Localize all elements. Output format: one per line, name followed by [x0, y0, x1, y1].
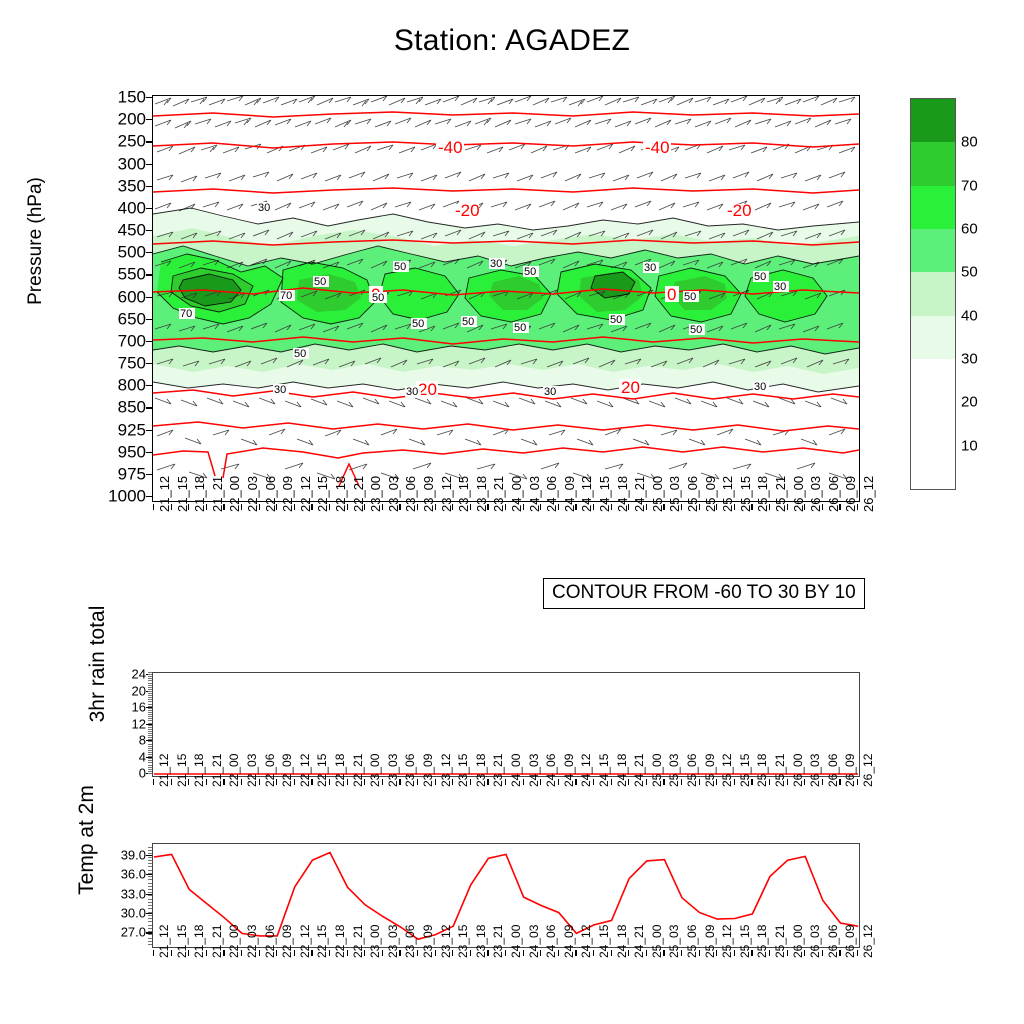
colorbar-label: 80 [961, 134, 978, 151]
x-tick-label: 23_15 [456, 754, 470, 787]
x-tick-mark [751, 950, 752, 956]
x-tick-label: 25_09 [703, 925, 717, 958]
x-tick-mark [839, 504, 840, 510]
x-tick-mark [276, 950, 277, 956]
x-tick-mark [857, 950, 858, 956]
x-tick-label: 23_12 [439, 925, 453, 958]
x-tick-mark [593, 504, 594, 510]
x-tick-label: 25_18 [755, 754, 769, 787]
colorbar-label: 50 [961, 264, 978, 281]
x-tick-label: 23_18 [474, 925, 488, 958]
x-tick-mark [206, 950, 207, 956]
x-tick-label: 24_12 [579, 925, 593, 958]
x-tick-mark [364, 504, 365, 510]
x-tick-mark [769, 779, 770, 785]
x-tick-mark [311, 779, 312, 785]
x-tick-mark [822, 779, 823, 785]
x-tick-label: 24_12 [579, 754, 593, 787]
rain-y-tick-label: 8 [104, 734, 146, 747]
x-tick-mark [417, 950, 418, 956]
x-tick-mark [787, 779, 788, 785]
x-tick-label: 24_09 [562, 925, 576, 958]
x-tick-mark [804, 779, 805, 785]
x-tick-label: 24_00 [509, 925, 523, 958]
x-tick-mark [628, 504, 629, 510]
x-tick-label: 25_03 [667, 925, 681, 958]
x-tick-mark [311, 504, 312, 510]
x-tick-label: 25_09 [703, 754, 717, 787]
x-tick-mark [611, 779, 612, 785]
x-tick-mark [646, 950, 647, 956]
x-tick-label: 21_21 [210, 754, 224, 787]
y-tick-label: 500 [90, 244, 146, 261]
rain-y-tick-label: 12 [104, 717, 146, 730]
x-tick-label: 21_15 [175, 754, 189, 787]
x-tick-mark [523, 950, 524, 956]
temp-y-tick-label: 36.0 [92, 868, 146, 881]
x-tick-label: 25_06 [685, 754, 699, 787]
y-tick-label: 150 [90, 89, 146, 106]
y-tick-label: 350 [90, 177, 146, 194]
x-tick-mark [523, 504, 524, 510]
x-tick-label: 24_06 [544, 754, 558, 787]
x-tick-label: 22_12 [298, 925, 312, 958]
x-tick-mark [329, 950, 330, 956]
red-contour-label: 0 [667, 285, 676, 304]
x-tick-mark [452, 504, 453, 510]
humidity-contour-label: 50 [610, 314, 622, 326]
humidity-contour-label: 50 [372, 292, 384, 304]
x-tick-label: 23_06 [403, 754, 417, 787]
x-tick-mark [347, 950, 348, 956]
x-tick-label: 22_06 [263, 754, 277, 787]
x-tick-mark [716, 779, 717, 785]
x-tick-mark [399, 779, 400, 785]
x-tick-label: 23_09 [421, 754, 435, 787]
humidity-contour-label: 30 [544, 386, 556, 398]
rain-x-axis-labels: 21_1221_1521_1821_2122_0022_0322_0622_09… [152, 779, 858, 849]
x-tick-mark [435, 504, 436, 510]
x-tick-mark [558, 779, 559, 785]
main-x-axis-labels: 21_1221_1521_1821_2122_0022_0322_0622_09… [152, 504, 858, 579]
x-tick-mark [188, 950, 189, 956]
x-tick-label: 23_09 [421, 925, 435, 958]
y-tick-label: 550 [90, 266, 146, 283]
x-tick-label: 23_06 [403, 925, 417, 958]
red-contour-label: 20 [621, 378, 640, 397]
humidity-contour-label: 30 [274, 384, 286, 396]
x-tick-mark [575, 779, 576, 785]
temp-y-tick-label: 33.0 [92, 887, 146, 900]
x-tick-mark [382, 950, 383, 956]
x-tick-mark [259, 504, 260, 510]
x-tick-label: 22_00 [227, 754, 241, 787]
x-tick-mark [839, 950, 840, 956]
x-tick-mark [699, 950, 700, 956]
temp-y-tick-label: 27.0 [92, 926, 146, 939]
colorbar-label: 10 [961, 437, 978, 454]
x-tick-mark [716, 504, 717, 510]
humidity-contour-label: 50 [690, 324, 702, 336]
y-tick-label: 975 [90, 465, 146, 482]
x-tick-label: 25_12 [720, 754, 734, 787]
x-tick-mark [329, 779, 330, 785]
x-tick-label: 24_18 [615, 925, 629, 958]
rain-y-tick-labels: 04812162024 [104, 672, 146, 775]
x-tick-label: 24_15 [597, 925, 611, 958]
x-tick-label: 24_00 [509, 754, 523, 787]
x-tick-mark [505, 504, 506, 510]
colorbar-swatch [911, 99, 955, 143]
x-tick-mark [523, 779, 524, 785]
x-tick-mark [417, 504, 418, 510]
x-tick-mark [505, 779, 506, 785]
x-tick-mark [153, 779, 154, 785]
x-tick-label: 22_21 [351, 925, 365, 958]
x-tick-mark [171, 504, 172, 510]
x-tick-mark [276, 779, 277, 785]
x-tick-label: 25_03 [667, 754, 681, 787]
x-tick-label: 23_18 [474, 754, 488, 787]
y-tick-label: 800 [90, 377, 146, 394]
humidity-contour-label: 30 [258, 202, 270, 214]
x-tick-mark [329, 504, 330, 510]
x-tick-mark [223, 950, 224, 956]
y-tick-label: 700 [90, 332, 146, 349]
x-tick-mark [839, 779, 840, 785]
x-tick-mark [188, 779, 189, 785]
x-tick-mark [699, 504, 700, 510]
x-tick-mark [804, 950, 805, 956]
x-tick-mark [382, 779, 383, 785]
colorbar-swatch [911, 359, 955, 403]
colorbar-label: 70 [961, 177, 978, 194]
x-tick-label: 26_03 [808, 754, 822, 787]
x-tick-mark [857, 504, 858, 510]
x-tick-label: 25_00 [650, 754, 664, 787]
x-tick-mark [153, 950, 154, 956]
rain-y-tick-label: 4 [104, 750, 146, 763]
colorbar-swatch [911, 186, 955, 230]
x-tick-mark [646, 504, 647, 510]
x-tick-mark [487, 504, 488, 510]
x-tick-mark [347, 504, 348, 510]
x-tick-mark [751, 779, 752, 785]
x-tick-mark [593, 950, 594, 956]
x-tick-label: 22_21 [351, 754, 365, 787]
x-tick-label: 21_12 [157, 925, 171, 958]
x-tick-label: 21_18 [192, 925, 206, 958]
x-tick-label: 25_21 [773, 925, 787, 958]
x-tick-mark [558, 504, 559, 510]
x-tick-mark [382, 504, 383, 510]
x-tick-mark [734, 779, 735, 785]
x-tick-label: 26_09 [843, 754, 857, 787]
x-tick-label: 23_21 [491, 754, 505, 787]
colorbar-swatch [911, 316, 955, 360]
colorbar-swatch [911, 229, 955, 273]
humidity-contour-label: 50 [412, 318, 424, 330]
x-tick-mark [611, 504, 612, 510]
x-tick-mark [364, 950, 365, 956]
y-tick-label: 750 [90, 355, 146, 372]
x-tick-mark [294, 950, 295, 956]
colorbar-swatch [911, 142, 955, 186]
x-tick-label: 22_15 [315, 925, 329, 958]
x-tick-label: 22_03 [245, 925, 259, 958]
x-tick-mark [628, 779, 629, 785]
x-tick-mark [804, 504, 805, 510]
x-tick-mark [294, 504, 295, 510]
x-tick-mark [171, 950, 172, 956]
x-tick-label: 25_15 [738, 754, 752, 787]
x-tick-mark [593, 779, 594, 785]
x-tick-mark [857, 779, 858, 785]
x-tick-mark [399, 950, 400, 956]
x-tick-label: 24_21 [632, 754, 646, 787]
humidity-contour-label: 50 [394, 261, 406, 273]
x-tick-label: 22_18 [333, 754, 347, 787]
x-tick-mark [558, 950, 559, 956]
y-tick-label: 300 [90, 155, 146, 172]
humidity-contour-label: 30 [774, 281, 786, 293]
humidity-contour-label: 70 [180, 308, 192, 320]
main-y-tick-labels: 1502002503003504004505005506006507007508… [90, 95, 146, 500]
colorbar-label: 30 [961, 351, 978, 368]
x-tick-label: 26_00 [791, 925, 805, 958]
x-tick-mark [734, 950, 735, 956]
x-tick-label: 25_15 [738, 925, 752, 958]
x-tick-mark [188, 504, 189, 510]
y-tick-label: 250 [90, 133, 146, 150]
x-tick-mark [787, 504, 788, 510]
x-tick-mark [417, 779, 418, 785]
x-tick-mark [663, 504, 664, 510]
x-tick-label: 26_12 [861, 476, 876, 512]
humidity-contour-label: 30 [644, 262, 656, 274]
x-tick-label: 22_09 [280, 925, 294, 958]
y-tick-label: 650 [90, 310, 146, 327]
contour-range-note: CONTOUR FROM -60 TO 30 BY 10 [543, 578, 865, 609]
x-tick-label: 22_03 [245, 754, 259, 787]
humidity-contour-label: 70 [280, 290, 292, 302]
humidity-contour-label: 50 [462, 316, 474, 328]
y-tick-label: 850 [90, 399, 146, 416]
x-tick-label: 23_15 [456, 925, 470, 958]
x-tick-mark [241, 504, 242, 510]
x-tick-mark [470, 779, 471, 785]
x-tick-label: 25_06 [685, 925, 699, 958]
red-contour-label: -40 [645, 138, 670, 157]
x-tick-label: 21_15 [175, 925, 189, 958]
x-tick-label: 26_03 [808, 925, 822, 958]
x-tick-label: 25_21 [773, 754, 787, 787]
x-tick-mark [575, 504, 576, 510]
x-tick-mark [470, 504, 471, 510]
x-tick-label: 25_00 [650, 925, 664, 958]
x-tick-mark [259, 779, 260, 785]
x-tick-mark [822, 950, 823, 956]
x-tick-label: 26_09 [843, 925, 857, 958]
x-tick-label: 22_18 [333, 925, 347, 958]
x-tick-mark [540, 779, 541, 785]
colorbar-swatch [911, 272, 955, 316]
humidity-contour-label: 30 [406, 386, 418, 398]
temp-y-tick-label: 30.0 [92, 906, 146, 919]
page-title: Station: AGADEZ [0, 24, 1024, 58]
rain-y-tick-label: 16 [104, 701, 146, 714]
contour-plot-svg: -40 -40 -20 -20 0 0 20 20 30 30 [153, 96, 859, 501]
x-tick-label: 25_18 [755, 925, 769, 958]
x-tick-label: 24_03 [527, 925, 541, 958]
red-contour-label: -20 [455, 201, 480, 220]
x-tick-mark [505, 950, 506, 956]
x-tick-label: 23_00 [368, 754, 382, 787]
x-tick-label: 22_12 [298, 754, 312, 787]
x-tick-mark [751, 504, 752, 510]
x-tick-mark [681, 504, 682, 510]
x-tick-label: 23_12 [439, 754, 453, 787]
x-tick-label: 24_18 [615, 754, 629, 787]
x-tick-mark [223, 504, 224, 510]
y-tick-label: 400 [90, 199, 146, 216]
red-contour-label: -40 [438, 138, 463, 157]
y-tick-label: 200 [90, 111, 146, 128]
x-tick-mark [241, 950, 242, 956]
rain-y-tick-label: 20 [104, 684, 146, 697]
x-tick-mark [452, 950, 453, 956]
x-tick-label: 26_06 [826, 925, 840, 958]
x-tick-mark [611, 950, 612, 956]
x-tick-mark [171, 779, 172, 785]
x-tick-mark [628, 950, 629, 956]
x-tick-mark [435, 779, 436, 785]
x-tick-mark [259, 950, 260, 956]
y-tick-label: 1000 [90, 488, 146, 505]
y-tick-label: 950 [90, 443, 146, 460]
humidity-contour-label: 50 [754, 271, 766, 283]
x-tick-mark [223, 779, 224, 785]
x-tick-label: 26_12 [861, 925, 875, 958]
x-tick-mark [487, 779, 488, 785]
x-tick-mark [663, 950, 664, 956]
x-tick-mark [646, 779, 647, 785]
x-tick-label: 25_12 [720, 925, 734, 958]
rain-y-tick-label: 0 [104, 767, 146, 780]
main-y-axis-label: Pressure (hPa) [25, 111, 47, 371]
x-tick-mark [769, 504, 770, 510]
x-tick-mark [787, 950, 788, 956]
temp-y-tick-label: 39.0 [92, 848, 146, 861]
x-tick-mark [206, 779, 207, 785]
y-tick-label: 450 [90, 222, 146, 239]
x-tick-mark [540, 950, 541, 956]
y-tick-label: 925 [90, 421, 146, 438]
x-tick-label: 23_00 [368, 925, 382, 958]
x-tick-label: 22_00 [227, 925, 241, 958]
x-tick-label: 21_12 [157, 754, 171, 787]
sounding-contour-panel[interactable]: -40 -40 -20 -20 0 0 20 20 30 30 [152, 95, 860, 502]
x-tick-mark [276, 504, 277, 510]
x-tick-mark [241, 779, 242, 785]
x-tick-mark [347, 779, 348, 785]
colorbar-swatch [911, 402, 955, 446]
x-tick-label: 22_09 [280, 754, 294, 787]
x-tick-mark [734, 504, 735, 510]
x-tick-mark [540, 504, 541, 510]
x-tick-label: 23_03 [386, 925, 400, 958]
x-tick-label: 24_03 [527, 754, 541, 787]
colorbar-swatch [911, 446, 955, 489]
humidity-contour-label: 30 [490, 258, 502, 270]
x-tick-mark [452, 779, 453, 785]
humidity-contour-label: 30 [754, 381, 766, 393]
x-tick-mark [663, 779, 664, 785]
x-tick-mark [822, 504, 823, 510]
x-tick-label: 26_12 [861, 754, 875, 787]
x-tick-mark [487, 950, 488, 956]
humidity-colorbar: 8070605040302010 [910, 98, 956, 490]
x-tick-mark [575, 950, 576, 956]
x-tick-mark [681, 950, 682, 956]
humidity-contour-label: 50 [684, 291, 696, 303]
x-tick-label: 24_21 [632, 925, 646, 958]
temp-x-axis-labels: 21_1221_1521_1821_2122_0022_0322_0622_09… [152, 950, 858, 1020]
x-tick-mark [435, 950, 436, 956]
y-tick-label: 600 [90, 288, 146, 305]
x-tick-mark [699, 779, 700, 785]
temp-y-tick-labels: 27.030.033.036.039.0 [92, 843, 146, 946]
humidity-contour-label: 50 [294, 348, 306, 360]
x-tick-label: 24_09 [562, 754, 576, 787]
colorbar-label: 60 [961, 221, 978, 238]
x-tick-mark [470, 950, 471, 956]
x-tick-mark [153, 504, 154, 510]
x-tick-label: 21_18 [192, 754, 206, 787]
x-tick-mark [294, 779, 295, 785]
x-tick-label: 24_06 [544, 925, 558, 958]
x-tick-mark [399, 504, 400, 510]
x-tick-label: 22_15 [315, 754, 329, 787]
x-tick-label: 26_06 [826, 754, 840, 787]
x-tick-mark [769, 950, 770, 956]
x-tick-label: 26_00 [791, 754, 805, 787]
humidity-contour-label: 50 [314, 276, 326, 288]
humidity-contour-label: 50 [524, 266, 536, 278]
x-tick-label: 22_06 [263, 925, 277, 958]
x-tick-mark [364, 779, 365, 785]
x-tick-mark [311, 950, 312, 956]
rain-y-tick-label: 24 [104, 668, 146, 681]
x-tick-label: 23_21 [491, 925, 505, 958]
colorbar-label: 20 [961, 394, 978, 411]
x-tick-mark [681, 779, 682, 785]
colorbar-label: 40 [961, 307, 978, 324]
x-tick-label: 24_15 [597, 754, 611, 787]
x-tick-mark [716, 950, 717, 956]
red-contour-label: -20 [727, 201, 752, 220]
x-tick-mark [206, 504, 207, 510]
humidity-contour-label: 50 [514, 322, 526, 334]
x-tick-label: 23_03 [386, 754, 400, 787]
x-tick-label: 21_21 [210, 925, 224, 958]
